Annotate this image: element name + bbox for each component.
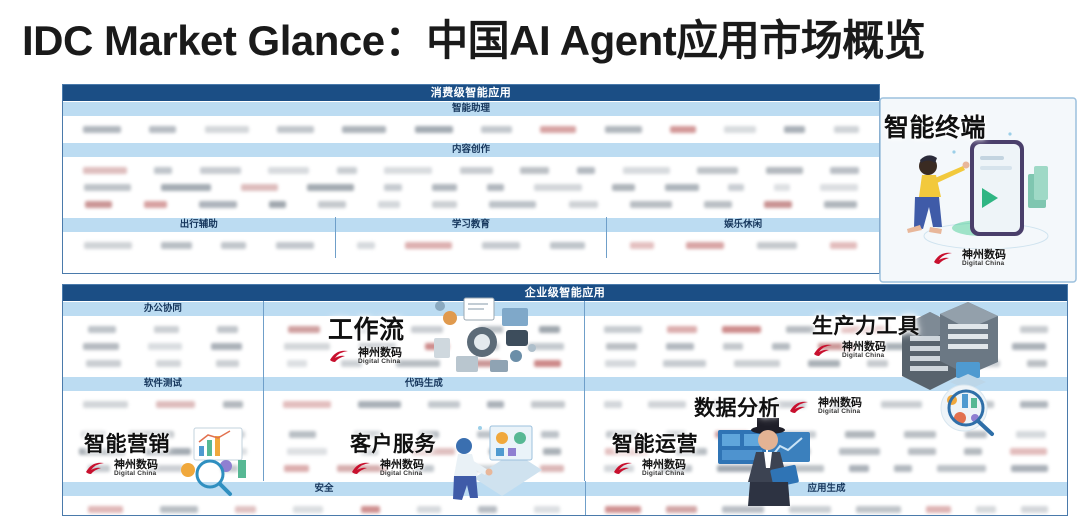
vendor-logo [289,431,316,438]
logo-row [585,321,1067,338]
vendor-logo [361,448,378,455]
vendor-logo [396,360,440,367]
vendor-logo [686,242,724,249]
vendor-logo [432,184,457,191]
vendor-logo [283,401,331,408]
logo-row [63,396,263,413]
vendor-logo [774,184,790,191]
vendor-logo [520,167,549,174]
vendor-logo [543,448,561,455]
vendor-logo [337,167,357,174]
vendor-logo [88,506,123,513]
vendor-logo [757,242,797,249]
vendor-logo [937,343,983,350]
vendor-logo [605,506,641,513]
enterprise-row-4: 安全 应用生成 [63,481,1067,516]
vendor-logo [908,448,936,455]
vendor-logo [293,506,323,513]
vendor-logo [405,242,452,249]
vendor-logo [849,465,869,472]
vendor-logo [477,431,503,438]
vendor-logo [766,167,803,174]
vendor-logo [83,343,119,350]
vendor-logo [83,126,121,133]
vendor-logo [724,126,756,133]
enterprise-cell-marketing [63,417,264,481]
vendor-logo [808,360,840,367]
vendor-logo [845,431,875,438]
enterprise-cell-office-collab: 办公协同 [63,301,264,376]
vendor-logo [1020,401,1048,408]
enterprise-cell-code-generation: 代码生成 [264,376,585,417]
vendor-logo [894,465,912,472]
logo-row [63,443,263,460]
vendor-logo [824,201,857,208]
vendor-logo [79,448,125,455]
enterprise-label-row2-right [585,376,1067,392]
vendor-logo [156,360,181,367]
logo-row [264,338,584,355]
enterprise-cell-software-testing: 软件测试 [63,376,264,417]
enterprise-cell-customer-service [264,417,585,481]
vendor-logo [276,242,314,249]
vendor-logo [154,326,179,333]
vendor-logo [534,506,560,513]
vendor-logo [481,126,512,133]
vendor-logo [84,184,131,191]
vendor-logo [541,431,559,438]
enterprise-label-software-testing: 软件测试 [63,376,263,392]
logo-row [63,121,879,138]
vendor-logo [666,506,697,513]
vendor-logo [269,201,286,208]
vendor-logo [378,201,400,208]
vendor-logo [764,201,792,208]
enterprise-cell-operations [585,417,1067,481]
vendor-logo [867,360,888,367]
logo-row [264,355,584,372]
page-title: IDC Market Glance：中国AI Agent应用市场概览 [22,16,1068,66]
logo-grid-app-generation [586,497,1067,516]
logo-grid-smart-assistant [63,117,879,142]
vendor-logo [479,326,503,333]
vendor-logo [199,201,237,208]
vendor-logo [85,201,112,208]
vendor-logo [881,401,922,408]
vendor-logo [86,360,121,367]
vendor-logo [211,343,242,350]
consumer-subsection-smart-assistant: 智能助理 [63,101,879,117]
enterprise-label-code-generation: 代码生成 [264,376,584,392]
vendor-logo [415,126,453,133]
vendor-logo [604,465,634,472]
vendor-logo [88,465,110,472]
vendor-logo [667,326,697,333]
vendor-logo [550,242,585,249]
vendor-logo [428,401,460,408]
logo-grid-customer-service [264,417,584,481]
vendor-logo [818,343,855,350]
enterprise-applications-panel: 企业级智能应用 办公协同 软件测试 代码生成 [62,284,1068,516]
vendor-logo [1011,465,1048,472]
logo-grid-productivity [585,317,1067,376]
vendor-logo [605,448,648,455]
consumer-section-header: 消费级智能应用 [63,85,879,101]
logo-row [63,162,879,179]
vendor-logo [356,326,375,333]
logo-row [585,338,1067,355]
vendor-logo [342,126,386,133]
enterprise-row-1: 办公协同 [63,301,1067,376]
vendor-logo [531,401,565,408]
brand-logo-smart-terminal: 神州数码 Digital China [932,250,1006,268]
vendor-logo [148,465,183,472]
vendor-logo [412,448,455,455]
vendor-logo [161,242,192,249]
vendor-logo [415,465,434,472]
consumer-column-education: 学习教育 [336,217,608,258]
logo-grid-software-testing [63,392,263,417]
vendor-logo [722,326,761,333]
vendor-logo [856,506,901,513]
vendor-logo [307,184,354,191]
vendor-logo [161,184,211,191]
vendor-logo [205,126,249,133]
vendor-logo [358,401,401,408]
vendor-logo [782,465,824,472]
vendor-logo [357,242,375,249]
callout-smart-terminal: 智能终端 [884,108,986,144]
vendor-logo [604,401,622,408]
enterprise-row-3 [63,417,1067,481]
vendor-logo [612,184,635,191]
consumer-bottom-columns: 出行辅助 学习教育 娱乐休闲 [63,217,879,258]
logo-row [585,355,1067,372]
vendor-logo [916,360,937,367]
vendor-logo [534,360,561,367]
vendor-logo [221,465,238,472]
vendor-logo [417,506,441,513]
vendor-logo [630,201,672,208]
vendor-logo [665,184,699,191]
vendor-logo [964,448,982,455]
vendor-logo [223,401,243,408]
vendor-logo [783,448,810,455]
vendor-logo [830,242,857,249]
logo-grid-office-collab [63,317,263,376]
vendor-logo [965,360,1000,367]
vendor-logo [474,360,500,367]
vendor-logo [834,126,859,133]
digital-china-mark-icon [932,250,958,267]
vendor-logo [160,506,198,513]
vendor-logo [659,465,692,472]
vendor-logo [318,201,346,208]
vendor-logo [630,242,654,249]
vendor-logo [735,448,755,455]
vendor-logo [287,448,327,455]
vendor-logo [200,167,241,174]
logo-row [63,237,335,254]
vendor-logo [839,448,880,455]
enterprise-cell-productivity [585,301,1067,376]
vendor-logo [84,242,132,249]
vendor-logo [478,343,499,350]
logo-row [63,501,585,516]
vendor-logo [966,326,995,333]
vendor-logo [606,431,637,438]
consumer-subsection-entertainment: 娱乐休闲 [607,217,879,233]
enterprise-label-app-generation: 应用生成 [586,481,1067,497]
vendor-logo [144,201,167,208]
vendor-logo [384,167,432,174]
vendor-logo [715,431,748,438]
callout-data-analysis: 数据分析 神州数码 Digital China [694,392,862,422]
vendor-logo [411,326,443,333]
vendor-logo [784,126,805,133]
vendor-logo [284,465,309,472]
logo-row [264,443,584,460]
vendor-logo [221,242,246,249]
vendor-logo [1012,343,1046,350]
vendor-logo [949,401,994,408]
vendor-logo [904,431,936,438]
vendor-logo [697,167,738,174]
vendor-logo [235,506,256,513]
vendor-logo [337,465,387,472]
vendor-logo [241,184,278,191]
logo-grid-code-generation [264,392,584,417]
consumer-applications-panel: 消费级智能应用 智能助理 内容创作 出行辅助 学习教育 娱乐休闲 [62,84,880,274]
vendor-logo [156,401,195,408]
vendor-logo [341,360,362,367]
vendor-logo [288,326,320,333]
vendor-logo [217,326,238,333]
vendor-logo [830,167,859,174]
enterprise-label-row1-right [585,301,1067,317]
vendor-logo [606,343,637,350]
logo-row [585,443,1067,460]
brand-name-en: Digital China [962,261,1006,268]
vendor-logo [482,242,520,249]
enterprise-label-security: 安全 [63,481,585,497]
vendor-logo [277,126,314,133]
logo-grid-education [336,233,607,258]
vendor-logo [1010,448,1047,455]
callout-label-smart-terminal: 智能终端 [884,108,986,144]
vendor-logo [284,343,330,350]
vendor-logo [648,401,686,408]
logo-row [586,501,1067,516]
vendor-logo [937,465,986,472]
logo-row [264,396,584,413]
consumer-column-travel: 出行辅助 [63,217,336,258]
logo-row [585,426,1067,443]
logo-grid-travel [63,233,335,258]
vendor-logo [663,360,706,367]
vendor-logo [425,343,449,350]
logo-row [63,355,263,372]
vendor-logo [384,184,402,191]
vendor-logo [623,167,670,174]
logo-row [264,321,584,338]
vendor-logo [1016,431,1046,438]
logo-grid-entertainment [607,233,879,258]
logo-grid-content-creation [63,158,879,217]
callout-label-data-analysis: 数据分析 [694,392,780,422]
vendor-logo [604,326,642,333]
vendor-logo [419,431,439,438]
logo-grid-operations [585,417,1067,481]
consumer-subsection-education: 学习教育 [336,217,607,233]
vendor-logo [268,167,309,174]
consumer-subsection-travel: 出行辅助 [63,217,335,233]
vendor-logo [666,343,694,350]
vendor-logo [460,167,493,174]
logo-row [264,426,584,443]
vendor-logo [359,343,396,350]
enterprise-cell-security: 安全 [63,481,585,516]
vendor-logo [354,431,381,438]
logo-row [63,460,263,477]
vendor-logo [789,506,831,513]
vendor-logo [539,326,560,333]
vendor-logo [704,201,732,208]
vendor-logo [489,448,509,455]
enterprise-cell-workflow [264,301,585,376]
vendor-logo [772,343,790,350]
vendor-logo [489,201,536,208]
enterprise-label-row1-mid [264,301,584,317]
vendor-logo [734,360,780,367]
vendor-logo [965,431,987,438]
digital-china-mark-icon [788,399,814,416]
vendor-logo [577,167,595,174]
vendor-logo [666,431,686,438]
enterprise-label-office-collab: 办公协同 [63,301,263,317]
vendor-logo [723,343,743,350]
brand-logo-data-analysis: 神州数码 Digital China [788,398,862,416]
consumer-subsection-content-creation: 内容创作 [63,142,879,158]
vendor-logo [777,431,816,438]
vendor-logo [1020,326,1048,333]
vendor-logo [728,184,744,191]
logo-row [63,179,879,196]
vendor-logo [605,360,636,367]
vendor-logo [820,184,858,191]
vendor-logo [211,448,247,455]
enterprise-section-header: 企业级智能应用 [63,285,1067,301]
vendor-logo [841,326,889,333]
vendor-logo [81,431,106,438]
vendor-logo [198,431,245,438]
vendor-logo [154,167,172,174]
vendor-logo [83,167,127,174]
vendor-logo [1027,360,1047,367]
vendor-logo [361,506,380,513]
logo-row [63,196,879,213]
vendor-logo [145,448,191,455]
enterprise-cell-app-generation: 应用生成 [585,481,1067,516]
vendor-logo [216,360,239,367]
vendor-logo [487,184,504,191]
vendor-logo [786,326,815,333]
vendor-logo [884,343,908,350]
vendor-logo [605,126,642,133]
logo-row [63,338,263,355]
vendor-logo [88,326,116,333]
vendor-logo [540,465,564,472]
vendor-logo [287,360,307,367]
vendor-logo [717,465,757,472]
vendor-logo [149,126,176,133]
vendor-logo [540,126,576,133]
vendor-logo [463,465,512,472]
logo-row [63,426,263,443]
logo-row [585,460,1067,477]
logo-row [264,460,584,477]
vendor-logo [432,201,457,208]
vendor-logo [722,506,764,513]
vendor-logo [478,506,497,513]
vendor-logo [1021,506,1048,513]
logo-grid-workflow [264,317,584,376]
logo-row [336,237,607,254]
logo-grid-security [63,497,585,516]
vendor-logo [914,326,941,333]
vendor-logo [534,184,582,191]
brand-name-en: Digital China [818,409,862,416]
logo-row [63,321,263,338]
vendor-logo [670,126,696,133]
vendor-logo [528,343,564,350]
vendor-logo [129,431,174,438]
consumer-column-entertainment: 娱乐休闲 [607,217,879,258]
vendor-logo [569,201,598,208]
vendor-logo [148,343,182,350]
enterprise-row-2: 软件测试 代码生成 [63,376,1067,417]
logo-grid-marketing [63,417,263,481]
vendor-logo [976,506,996,513]
logo-row [607,237,879,254]
vendor-logo [676,448,707,455]
vendor-logo [83,401,128,408]
vendor-logo [926,506,951,513]
vendor-logo [487,401,504,408]
